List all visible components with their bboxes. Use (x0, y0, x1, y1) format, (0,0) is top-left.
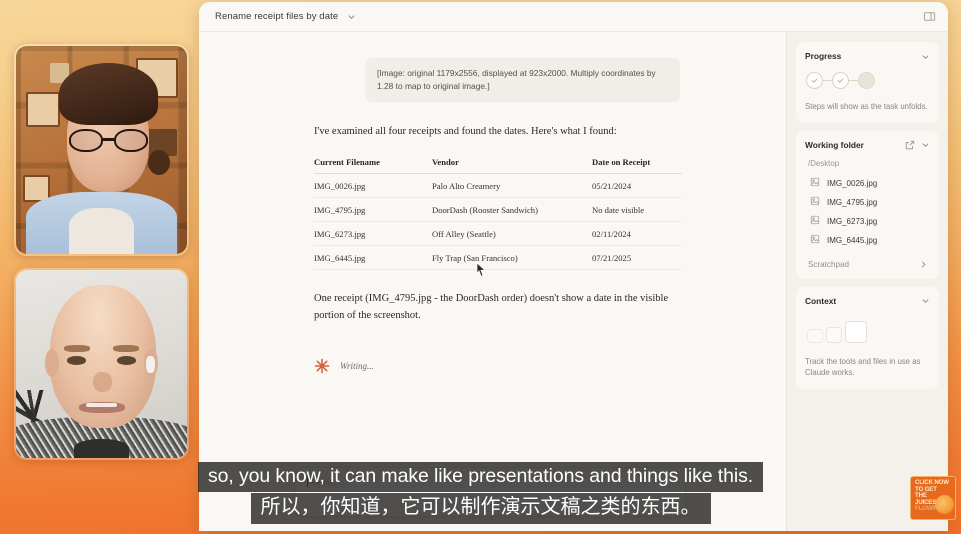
cell-date: 05/21/2024 (592, 174, 682, 198)
cell-date: 02/11/2024 (592, 222, 682, 246)
working-folder-header: Working folder (805, 140, 930, 150)
participant-2-eyebrow (113, 345, 139, 352)
participant-2-eyebrow (64, 345, 90, 352)
cell-filename: IMG_4795.jpg (314, 198, 432, 222)
image-file-icon (810, 234, 820, 246)
context-card: Context Track the tools and files in use… (796, 287, 939, 389)
progress-step-1 (806, 72, 823, 89)
participant-1-glasses (69, 129, 148, 152)
sparkle-icon (314, 358, 330, 374)
column-header-vendor: Vendor (432, 157, 592, 174)
column-header-date: Date on Receipt (592, 157, 682, 174)
cell-filename: IMG_6445.jpg (314, 246, 432, 270)
earbud-icon (146, 356, 155, 373)
cell-vendor: DoorDash (Rooster Sandwich) (432, 198, 592, 222)
chevron-down-icon[interactable] (921, 296, 930, 305)
chevron-down-icon[interactable] (921, 52, 930, 61)
progress-title: Progress (805, 51, 841, 61)
reply-placeholder: Reply... (310, 477, 339, 487)
context-thumb-icon (845, 321, 867, 343)
promo-watermark-badge[interactable]: CLICK NOW TO GET THE JUICES FLOWING (910, 476, 956, 520)
chevron-down-icon[interactable] (921, 140, 930, 149)
external-link-icon[interactable] (905, 140, 915, 150)
table-row: IMG_4795.jpg DoorDash (Rooster Sandwich)… (314, 198, 682, 222)
assistant-intro-text: I've examined all four receipts and foun… (217, 124, 762, 140)
progress-connector (823, 80, 832, 81)
participant-2-eye (117, 356, 136, 364)
generation-status-row: Writing... (314, 358, 762, 374)
claude-app-window: Rename receipt files by date [Image: ori… (199, 2, 948, 531)
working-folder-actions (905, 140, 930, 150)
conversation-column: [Image: original 1179x2556, displayed at… (199, 32, 786, 531)
participant-1-video (16, 46, 187, 254)
participant-1-tshirt (69, 208, 134, 254)
participant-2-teeth (86, 403, 117, 408)
app-titlebar: Rename receipt files by date (199, 2, 948, 32)
assistant-note-text: One receipt (IMG_4795.jpg - the DoorDash… (314, 291, 686, 324)
table-header-row: Current Filename Vendor Date on Receipt (314, 157, 682, 174)
webcam-tile-participant-2 (14, 268, 189, 460)
participant-1-hair (59, 63, 158, 125)
file-row[interactable]: IMG_6445.jpg (805, 231, 930, 250)
app-body: [Image: original 1179x2556, displayed at… (199, 32, 948, 531)
tool-result-callout: [Image: original 1179x2556, displayed at… (365, 58, 680, 102)
participant-2-nose (93, 372, 112, 393)
file-name: IMG_6273.jpg (827, 217, 877, 226)
table-row: IMG_6273.jpg Off Alley (Seattle) 02/11/2… (314, 222, 682, 246)
image-file-icon (810, 196, 820, 208)
participant-2-video (16, 270, 187, 458)
progress-connector (849, 80, 858, 81)
progress-hint: Steps will show as the task unfolds. (805, 101, 930, 113)
context-hint: Track the tools and files in use as Clau… (805, 356, 930, 379)
cell-filename: IMG_0026.jpg (314, 174, 432, 198)
reply-input[interactable]: Reply... (294, 467, 686, 517)
cell-vendor: Off Alley (Seattle) (432, 222, 592, 246)
participant-2-collar (74, 439, 129, 458)
context-card-header: Context (805, 296, 930, 306)
chevron-down-icon[interactable] (347, 12, 356, 21)
context-thumbnails (805, 315, 930, 345)
right-sidebar: Progress Steps will show as (786, 32, 948, 531)
progress-card: Progress Steps will show as (796, 42, 939, 123)
decor-shelf-object (148, 150, 170, 175)
context-thumb-icon (807, 329, 823, 343)
participant-2-ear (45, 349, 59, 377)
context-title: Context (805, 296, 836, 306)
working-folder-title: Working folder (805, 140, 864, 150)
chat-title: Rename receipt files by date (215, 11, 338, 22)
cell-filename: IMG_6273.jpg (314, 222, 432, 246)
working-folder-card: Working folder /Desktop (796, 131, 939, 279)
folder-path: /Desktop (808, 159, 930, 168)
image-file-icon (810, 215, 820, 227)
message-thread: [Image: original 1179x2556, displayed at… (199, 45, 786, 467)
chevron-right-icon (919, 260, 928, 269)
receipts-table: Current Filename Vendor Date on Receipt … (314, 157, 682, 270)
text-caret (307, 477, 308, 487)
table-row: IMG_6445.jpg Fly Trap (San Francisco) 07… (314, 246, 682, 270)
participant-2-eye (67, 356, 86, 364)
webcam-tile-participant-1 (14, 44, 189, 256)
cell-date: No date visible (592, 198, 682, 222)
file-row[interactable]: IMG_6273.jpg (805, 212, 930, 231)
scratchpad-row[interactable]: Scratchpad (805, 258, 930, 269)
reply-area: Reply... (199, 467, 786, 531)
progress-card-header: Progress (805, 51, 930, 61)
scratchpad-label: Scratchpad (808, 260, 849, 269)
file-name: IMG_6445.jpg (827, 236, 877, 245)
panel-toggle-icon[interactable] (922, 9, 937, 24)
file-name: IMG_4795.jpg (827, 198, 877, 207)
file-row[interactable]: IMG_4795.jpg (805, 193, 930, 212)
decor-picture-frame (26, 92, 60, 127)
file-name: IMG_0026.jpg (827, 179, 877, 188)
cell-date: 07/21/2025 (592, 246, 682, 270)
table-row: IMG_0026.jpg Palo Alto Creamery 05/21/20… (314, 174, 682, 198)
file-row[interactable]: IMG_0026.jpg (805, 174, 930, 193)
progress-step-2 (832, 72, 849, 89)
column-header-filename: Current Filename (314, 157, 432, 174)
progress-steps (805, 70, 930, 90)
image-file-icon (810, 177, 820, 189)
cell-vendor: Palo Alto Creamery (432, 174, 592, 198)
cell-vendor: Fly Trap (San Francisco) (432, 246, 592, 270)
status-label: Writing... (340, 361, 374, 371)
context-thumb-icon (826, 327, 842, 343)
citrus-icon (935, 495, 954, 514)
progress-step-3 (858, 72, 875, 89)
